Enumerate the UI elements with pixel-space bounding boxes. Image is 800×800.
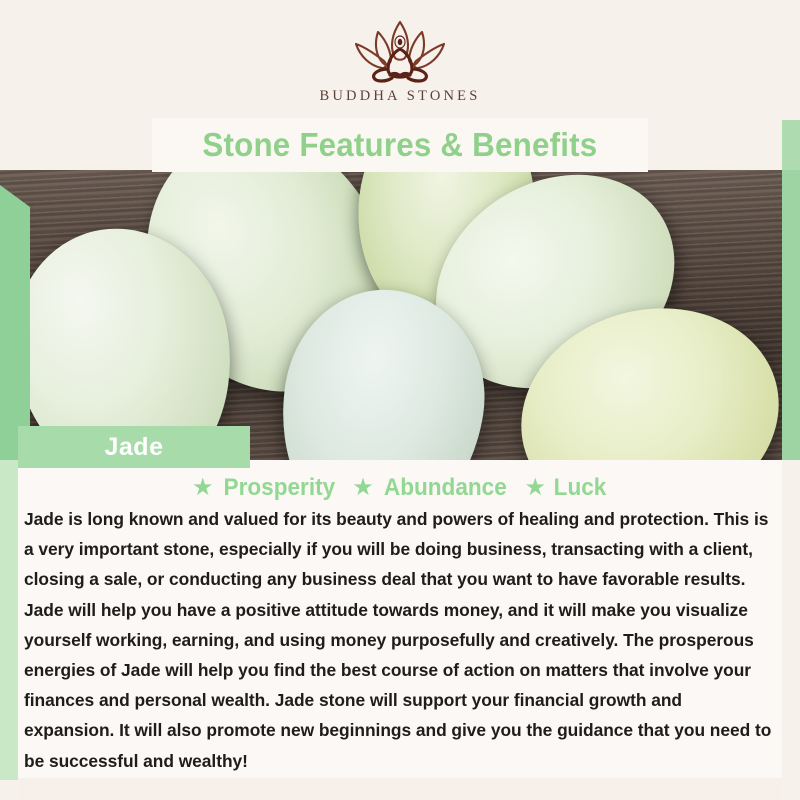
lotus-meditation-icon — [330, 16, 470, 84]
star-icon: ★ — [192, 476, 214, 500]
benefit-label: Prosperity — [223, 474, 335, 502]
star-icon: ★ — [352, 476, 374, 500]
benefit-item: ★ Abundance — [352, 474, 510, 502]
page-title: Stone Features & Benefits — [203, 126, 598, 164]
stone-photo — [0, 170, 800, 460]
benefit-label: Luck — [554, 474, 607, 502]
benefit-item: ★ Luck — [524, 474, 608, 502]
stone-name-label: Jade — [105, 433, 164, 462]
brand-header: BUDDHA STONES — [0, 0, 800, 120]
title-banner: Stone Features & Benefits — [152, 118, 648, 172]
benefit-label: Abundance — [384, 474, 507, 502]
benefit-item: ★ Prosperity — [192, 474, 338, 502]
stone-description: Jade is long known and valued for its be… — [24, 504, 774, 776]
bottom-strip — [18, 778, 782, 800]
content-panel: ★ Prosperity ★ Abundance ★ Luck Jade is … — [18, 460, 782, 800]
brand-wordmark: BUDDHA STONES — [320, 88, 481, 105]
star-icon: ★ — [524, 476, 546, 500]
green-frame-left-lower — [0, 460, 18, 780]
stone-name-badge: Jade — [18, 426, 250, 468]
green-frame-right-lower — [782, 170, 800, 460]
poster-root: BUDDHA STONES Stone Features & Benefits … — [0, 0, 800, 800]
